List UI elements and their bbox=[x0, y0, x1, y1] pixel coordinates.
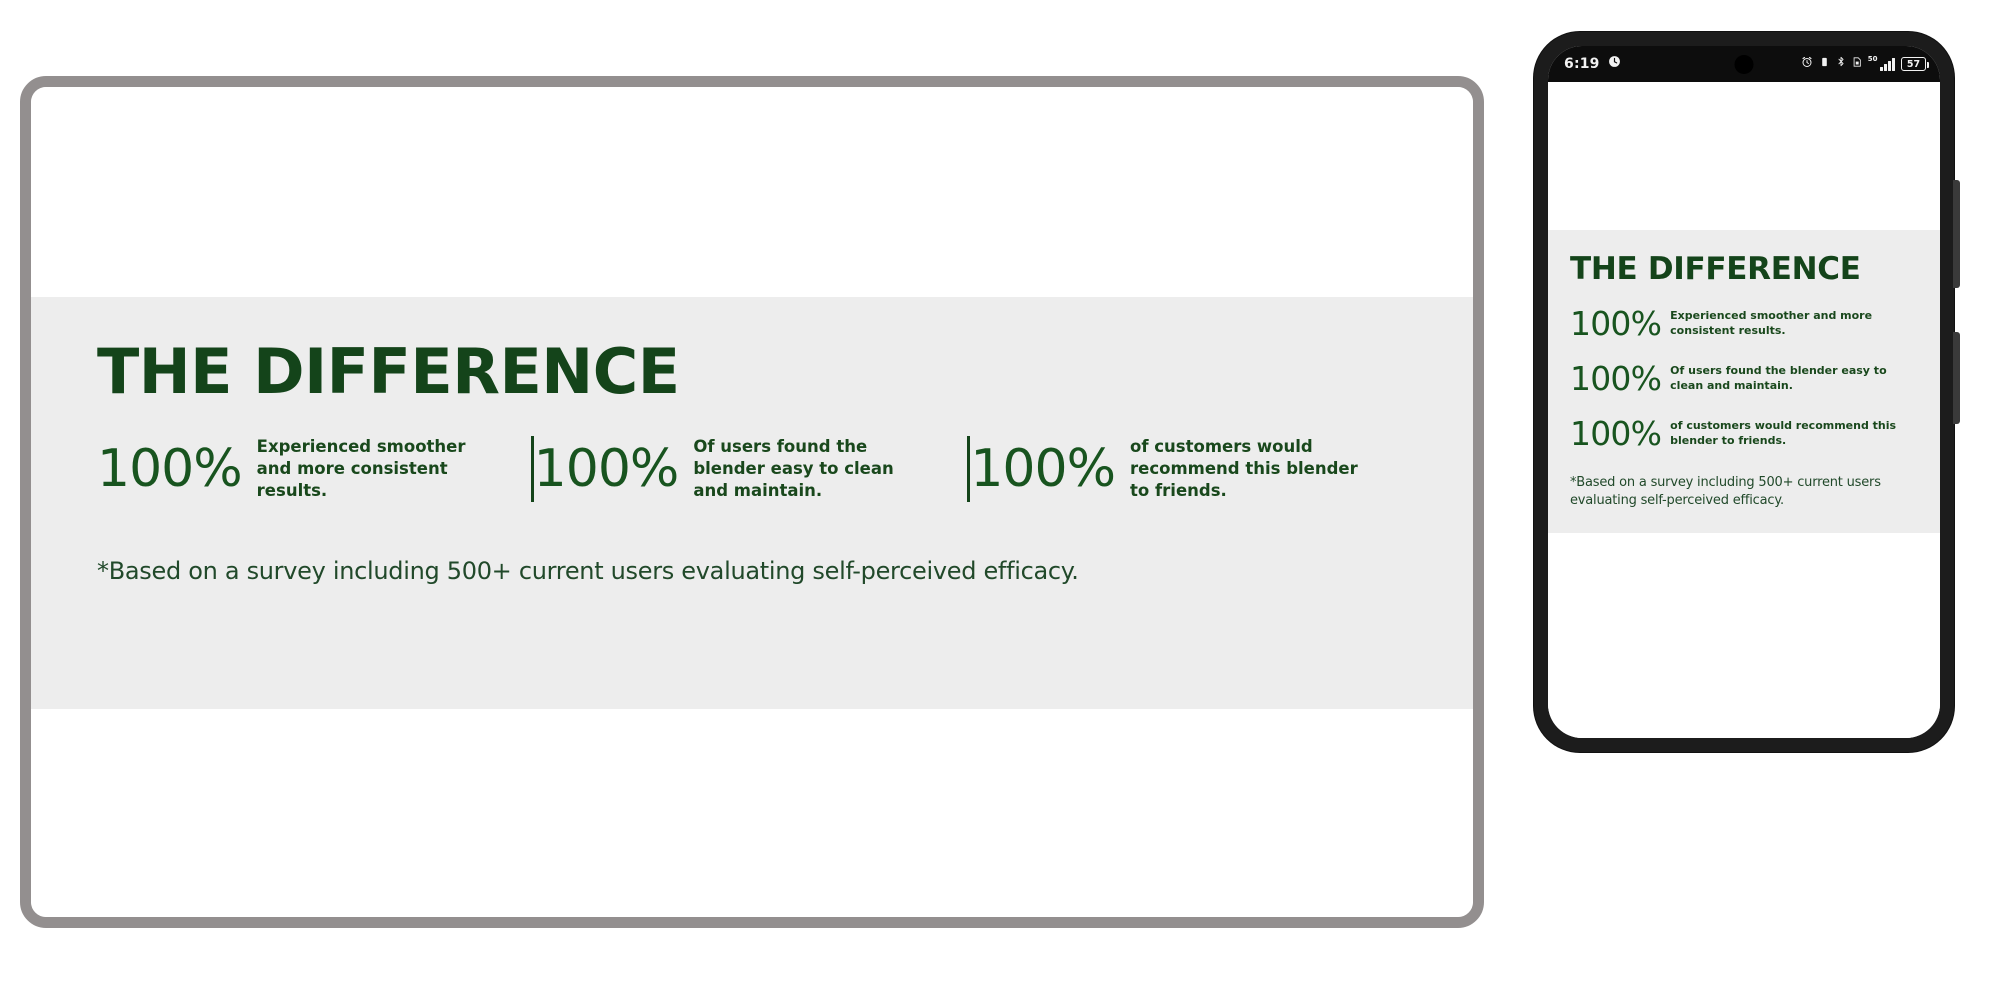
clock-icon bbox=[1608, 55, 1621, 73]
stats-row: 100% Experienced smoother and more consi… bbox=[97, 436, 1473, 502]
page-title-mobile: THE DIFFERENCE bbox=[1570, 254, 1920, 285]
stat-item-2-mobile: 100% Of users found the blender easy to … bbox=[1570, 362, 1920, 395]
stat-value: 100% bbox=[1570, 362, 1661, 395]
stat-item-3-mobile: 100% of customers would recommend this b… bbox=[1570, 417, 1920, 450]
stat-description: of customers would recommend this blende… bbox=[1670, 419, 1920, 448]
vibrate-icon bbox=[1819, 55, 1830, 73]
sim-card-icon bbox=[1852, 55, 1862, 73]
status-bar-left: 6:19 bbox=[1564, 55, 1621, 73]
battery-indicator: 57 bbox=[1901, 57, 1926, 71]
stat-item-1: 100% Experienced smoother and more consi… bbox=[97, 436, 531, 502]
stat-description: of customers would recommend this blende… bbox=[1130, 436, 1370, 502]
phone-volume-button[interactable] bbox=[1953, 180, 1960, 288]
phone-content: THE DIFFERENCE 100% Experienced smoother… bbox=[1548, 82, 1940, 738]
desktop-canvas: THE DIFFERENCE 100% Experienced smoother… bbox=[31, 87, 1473, 917]
stat-item-3: 100% of customers would recommend this b… bbox=[970, 436, 1404, 502]
stat-value: 100% bbox=[534, 443, 679, 495]
stat-description: Of users found the blender easy to clean… bbox=[1670, 364, 1920, 393]
front-camera-notch bbox=[1735, 55, 1754, 74]
status-bar-right: 50 57 bbox=[1801, 55, 1926, 73]
stat-value: 100% bbox=[97, 443, 242, 495]
survey-footnote-mobile: *Based on a survey including 500+ curren… bbox=[1570, 474, 1920, 509]
status-bar: 6:19 bbox=[1548, 46, 1940, 82]
alarm-icon bbox=[1801, 55, 1813, 73]
stat-item-2: 100% Of users found the blender easy to … bbox=[534, 436, 968, 502]
bluetooth-icon bbox=[1836, 55, 1846, 73]
stat-description: Experienced smoother and more consistent… bbox=[1670, 309, 1920, 338]
stat-item-1-mobile: 100% Experienced smoother and more consi… bbox=[1570, 307, 1920, 340]
difference-section-desktop: THE DIFFERENCE 100% Experienced smoother… bbox=[31, 297, 1473, 709]
phone-screen: 6:19 bbox=[1548, 46, 1940, 738]
status-time: 6:19 bbox=[1564, 56, 1600, 72]
phone-preview-frame: 6:19 bbox=[1534, 32, 1954, 752]
stat-value: 100% bbox=[1570, 307, 1661, 340]
signal-bars-icon bbox=[1880, 58, 1895, 71]
survey-footnote: *Based on a survey including 500+ curren… bbox=[97, 557, 1473, 585]
stat-description: Of users found the blender easy to clean… bbox=[693, 436, 933, 502]
difference-section-mobile: THE DIFFERENCE 100% Experienced smoother… bbox=[1548, 230, 1940, 533]
stat-value: 100% bbox=[970, 443, 1115, 495]
stat-description: Experienced smoother and more consistent… bbox=[257, 436, 497, 502]
network-speed-label: 50 bbox=[1868, 56, 1878, 63]
page-title: THE DIFFERENCE bbox=[97, 341, 1473, 403]
desktop-preview-frame: THE DIFFERENCE 100% Experienced smoother… bbox=[20, 76, 1484, 928]
phone-power-button[interactable] bbox=[1953, 332, 1960, 424]
battery-level-text: 57 bbox=[1907, 59, 1920, 70]
stat-value: 100% bbox=[1570, 417, 1661, 450]
